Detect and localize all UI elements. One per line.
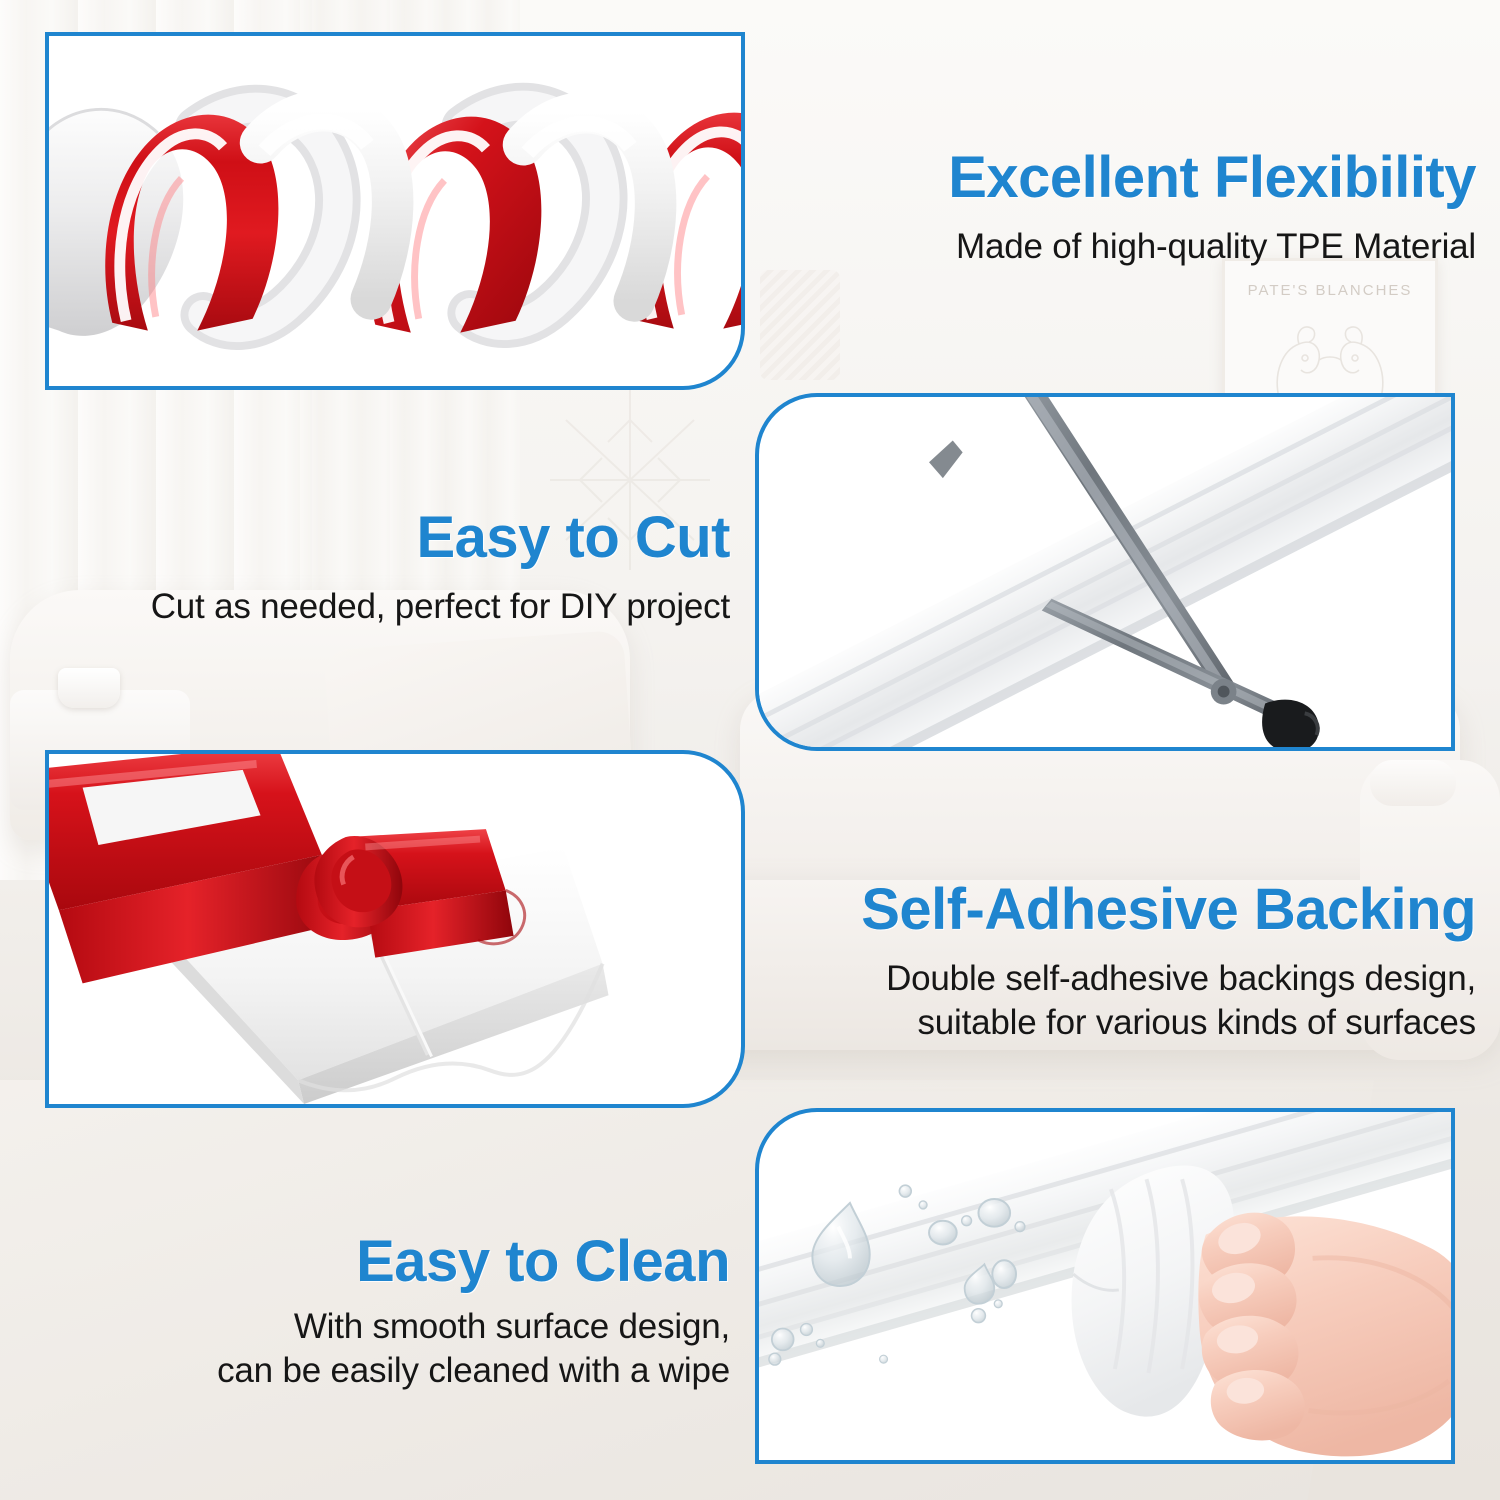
scissors-cutting-illustration [759, 397, 1451, 747]
feature-image-excellent-flexibility [45, 32, 745, 390]
adhesive-backing-illustration [49, 754, 741, 1104]
background-sofa-pillow [1370, 760, 1456, 806]
feature-heading-self-adhesive-backing: Self-Adhesive Backing [790, 880, 1476, 939]
feature-subtitle-self-adhesive-backing-line2: suitable for various kinds of surfaces [790, 1001, 1476, 1045]
background-poster-text: PATE'S BLANCHES [1240, 282, 1420, 299]
feature-image-easy-to-cut [755, 393, 1455, 751]
feature-subtitle-easy-to-clean-line1: With smooth surface design, [120, 1305, 730, 1349]
feature-subtitle-easy-to-clean-line2: can be easily cleaned with a wipe [120, 1349, 730, 1393]
feature-heading-excellent-flexibility: Excellent Flexibility [786, 148, 1476, 207]
feature-subtitle-excellent-flexibility: Made of high-quality TPE Material [786, 225, 1476, 269]
feature-image-self-adhesive-backing [45, 750, 745, 1108]
feature-image-easy-to-clean [755, 1108, 1455, 1464]
background-cup [58, 668, 120, 708]
hand-wiping-illustration [759, 1112, 1451, 1460]
feature-text-self-adhesive-backing: Self-Adhesive Backing Double self-adhesi… [790, 880, 1476, 1045]
feature-subtitle-self-adhesive-backing-line1: Double self-adhesive backings design, [790, 957, 1476, 1001]
hand [1198, 1213, 1451, 1457]
feature-text-easy-to-clean: Easy to Clean With smooth surface design… [120, 1232, 730, 1393]
feature-subtitle-easy-to-cut: Cut as needed, perfect for DIY project [40, 585, 730, 629]
feature-heading-easy-to-clean: Easy to Clean [120, 1232, 730, 1291]
coiled-tpe-strip-illustration [49, 36, 741, 386]
feature-text-excellent-flexibility: Excellent Flexibility Made of high-quali… [786, 148, 1476, 269]
background-lamp [760, 270, 840, 380]
feature-heading-easy-to-cut: Easy to Cut [40, 508, 730, 567]
feature-text-easy-to-cut: Easy to Cut Cut as needed, perfect for D… [40, 508, 730, 629]
